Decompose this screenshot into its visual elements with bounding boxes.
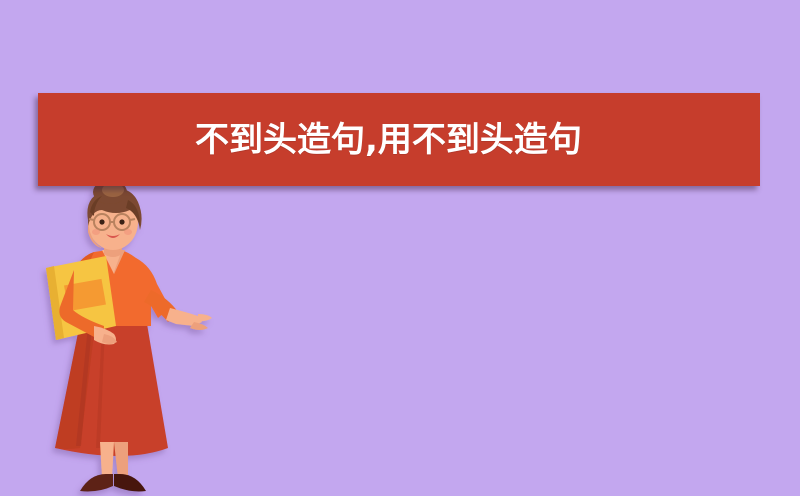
- page-title: 不到头造句,用不到头造句: [38, 123, 582, 157]
- teacher-woman-illustration: [18, 186, 233, 496]
- figure-group: [46, 186, 212, 491]
- banner-canvas: 不到头造句,用不到头造句: [0, 0, 800, 496]
- brown-shoes: [80, 474, 146, 491]
- title-banner: 不到头造句,用不到头造句: [38, 93, 760, 186]
